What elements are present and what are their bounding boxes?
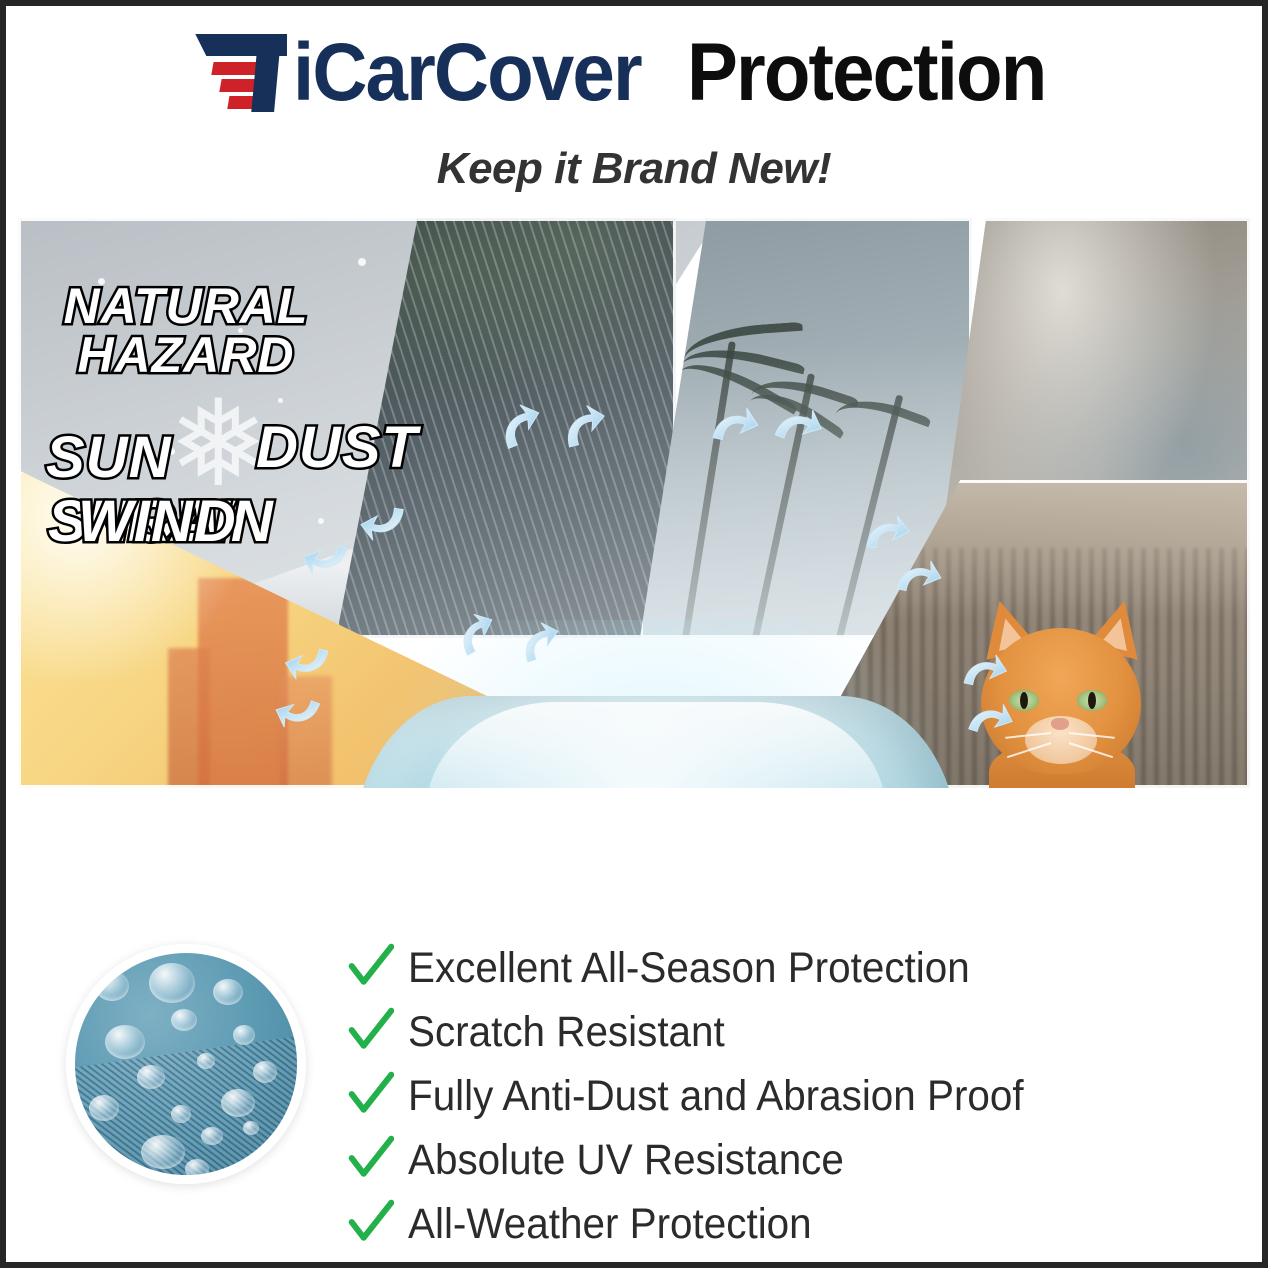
covered-car: [336, 650, 976, 788]
panel-label-hazard: NATURAL HAZARD: [46, 282, 326, 380]
list-item: Absolute UV Resistance: [348, 1134, 1228, 1192]
header: iCarCover Protection Keep it Brand New!: [6, 6, 1262, 206]
tagline: Keep it Brand New!: [6, 144, 1262, 194]
green-checkmark-icon: [348, 1070, 394, 1120]
green-checkmark-icon: [348, 1134, 394, 1184]
feature-label: Fully Anti-Dust and Abrasion Proof: [408, 1070, 1024, 1122]
features-section: Excellent All-Season Protection Scratch …: [18, 796, 1250, 1256]
list-item: Fully Anti-Dust and Abrasion Proof: [348, 1070, 1228, 1128]
green-checkmark-icon: [348, 1198, 394, 1248]
feature-list: Excellent All-Season Protection Scratch …: [348, 942, 1228, 1262]
feature-label: Scratch Resistant: [408, 1006, 725, 1058]
list-item: Excellent All-Season Protection: [348, 942, 1228, 1000]
panel-label-dust: DUST: [256, 420, 418, 477]
panel-label-sun: SUN: [46, 430, 171, 487]
brand-logo: iCarCover Protection: [6, 32, 1262, 114]
brand-word: Protection: [687, 32, 1046, 114]
weather-collage: ❅: [18, 218, 1250, 788]
feature-label: Absolute UV Resistance: [408, 1134, 844, 1186]
panel-label-wind: WIND: [78, 494, 237, 551]
snowflake-icon: ❅: [168, 384, 269, 504]
list-item: All-Weather Protection: [348, 1198, 1228, 1256]
feature-label: Excellent All-Season Protection: [408, 942, 970, 994]
deflection-arrow-icon: [703, 393, 764, 454]
brand-name: iCarCover: [293, 32, 641, 114]
green-checkmark-icon: [348, 1006, 394, 1056]
flag-wing-icon: [195, 34, 291, 112]
list-item: Scratch Resistant: [348, 1006, 1228, 1064]
water-beading-fabric-swatch: [66, 944, 306, 1184]
deflection-arrow-icon: [357, 497, 413, 553]
product-image-frame: iCarCover Protection Keep it Brand New! …: [0, 0, 1268, 1268]
green-checkmark-icon: [348, 942, 394, 992]
feature-label: All-Weather Protection: [408, 1198, 812, 1250]
